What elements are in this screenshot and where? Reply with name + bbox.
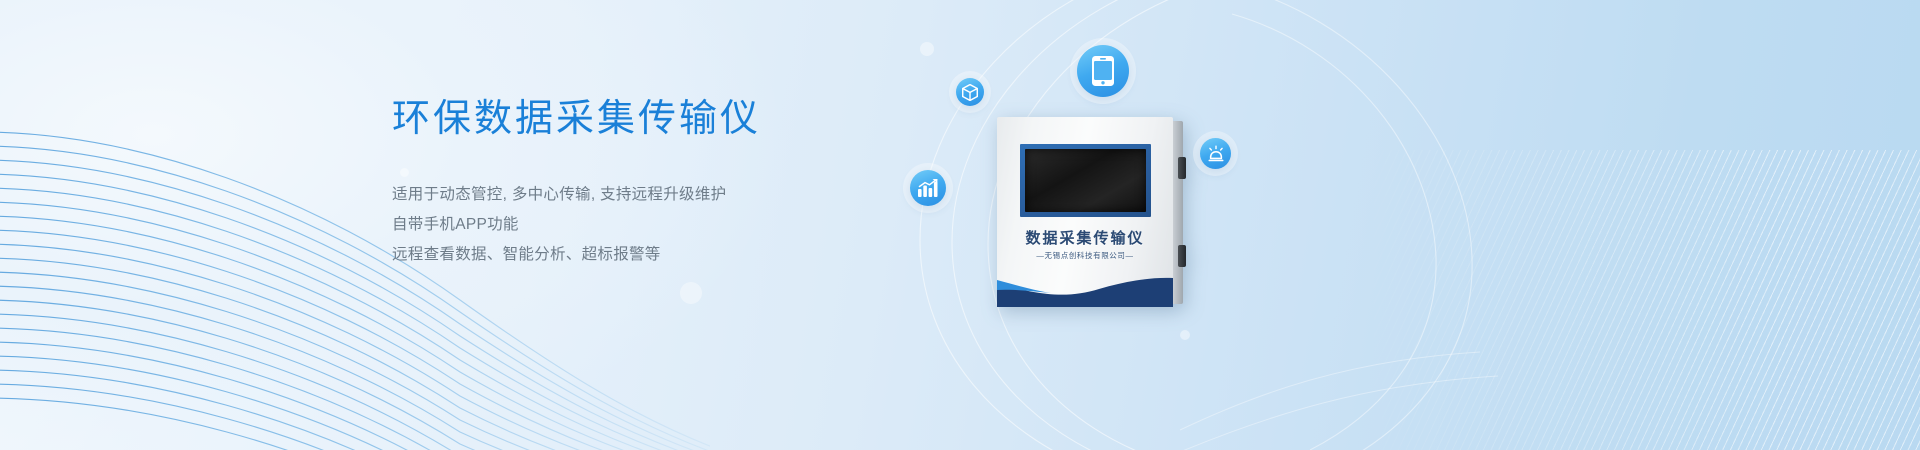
device-screen — [1025, 149, 1146, 212]
feature-line-2: 自带手机APP功能 — [392, 210, 912, 240]
feature-list: 适用于动态管控, 多中心传输, 支持远程升级维护 自带手机APP功能 远程查看数… — [392, 180, 912, 270]
device-base-wave — [997, 269, 1173, 307]
data-acquisition-device: 数据采集传输仪 —无锡点创科技有限公司— — [997, 117, 1173, 307]
decorative-dot — [1180, 330, 1190, 340]
product-hero-banner: 环保数据采集传输仪 适用于动态管控, 多中心传输, 支持远程升级维护 自带手机A… — [0, 0, 1920, 450]
device-hinge — [1178, 157, 1186, 179]
device-company-label: —无锡点创科技有限公司— — [997, 250, 1173, 261]
device-screen-bezel — [1020, 144, 1151, 217]
feature-line-1: 适用于动态管控, 多中心传输, 支持远程升级维护 — [392, 180, 912, 210]
device-side-panel — [1173, 121, 1183, 304]
feature-line-3: 远程查看数据、智能分析、超标报警等 — [392, 240, 912, 270]
decorative-dot — [920, 42, 934, 56]
decorative-dot — [400, 168, 409, 177]
decorative-arc-lines — [880, 0, 1560, 450]
mobile-phone-icon[interactable] — [1077, 45, 1129, 97]
device-title-label: 数据采集传输仪 — [997, 227, 1173, 248]
device-hinge — [1178, 245, 1186, 267]
product-illustration: 数据采集传输仪 —无锡点创科技有限公司— — [880, 0, 1560, 450]
cube-box-icon[interactable] — [956, 78, 984, 106]
decorative-dot — [680, 282, 702, 304]
bar-chart-icon[interactable] — [910, 170, 946, 206]
device-front-panel: 数据采集传输仪 —无锡点创科技有限公司— — [997, 117, 1173, 307]
alarm-siren-icon[interactable] — [1200, 138, 1231, 169]
banner-text-block: 环保数据采集传输仪 适用于动态管控, 多中心传输, 支持远程升级维护 自带手机A… — [392, 96, 912, 270]
page-title: 环保数据采集传输仪 — [392, 96, 912, 144]
